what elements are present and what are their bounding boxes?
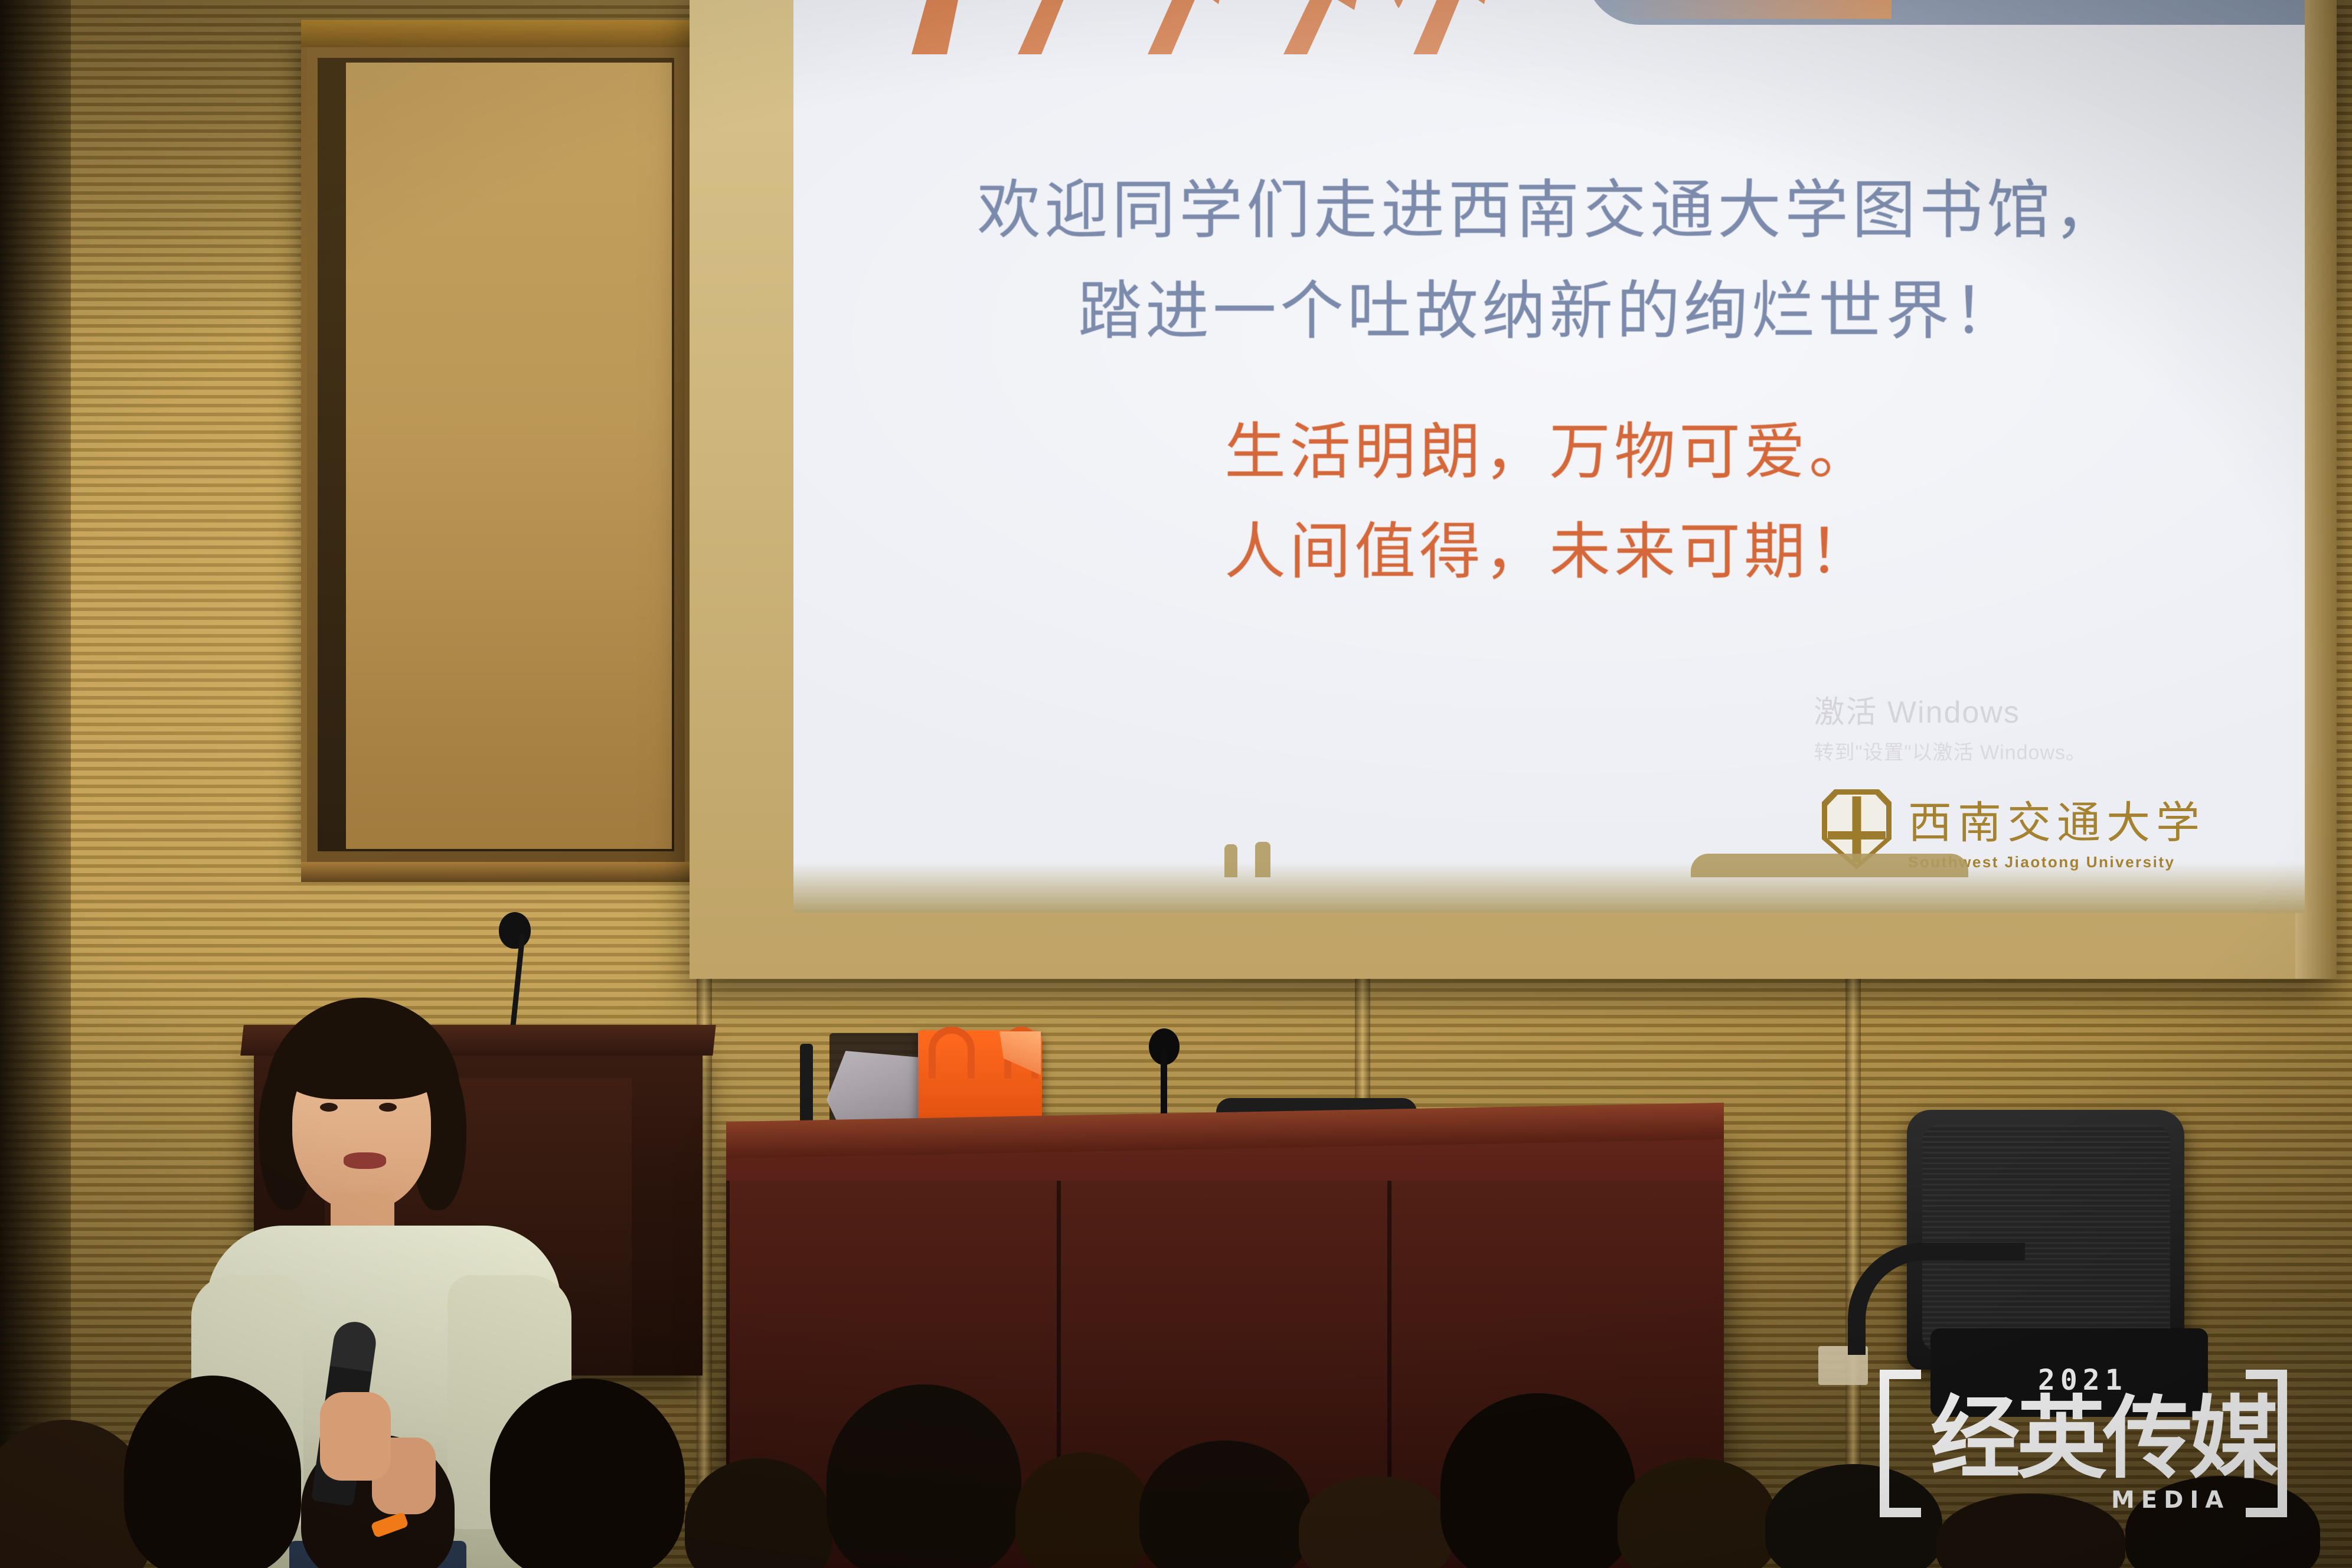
- presenter-hand-holding-mic: [320, 1392, 391, 1481]
- slide-line-accent-1: 生活明朗，万物可爱。: [793, 402, 2305, 501]
- shield-cross-vertical: [1853, 796, 1861, 863]
- audience-head-2: [124, 1376, 301, 1568]
- screen-shadow-blob: [1691, 854, 1968, 877]
- shield-cross-horizontal: [1828, 831, 1886, 839]
- handbag-handle-left: [929, 1027, 975, 1079]
- photo-scene: 欢迎同学们走进西南交通大学图书馆， 踏进一个吐故纳新的绚烂世界！ 生活明朗，万物…: [0, 0, 2352, 1568]
- podium-microphone-head-icon: [499, 912, 531, 949]
- slide-text-gap: [793, 362, 2305, 402]
- window-inner: [318, 58, 674, 851]
- windows-watermark-title: 激活 Windows: [1814, 687, 2086, 731]
- windows-watermark-subtitle: 转到"设置"以激活 Windows。: [1814, 736, 2086, 765]
- window-curtain: [346, 63, 672, 849]
- wall-shadow-left: [0, 0, 71, 1568]
- window-sill: [301, 862, 691, 882]
- watermark-bracket-left-icon: [1880, 1370, 1921, 1517]
- slide-decor-lineart-icon: [894, 0, 1543, 54]
- screen-shadow-antenna-left: [1224, 844, 1237, 877]
- presenter-bangs: [283, 1028, 442, 1099]
- projection-screen-frame: 欢迎同学们走进西南交通大学图书馆， 踏进一个吐故纳新的绚烂世界！ 生活明朗，万物…: [690, 0, 2337, 979]
- media-watermark-logo: 经英传媒 2021 MEDIA: [1880, 1370, 2287, 1517]
- watermark-text-en: MEDIA: [2111, 1487, 2230, 1514]
- presenter-mouth: [344, 1152, 386, 1169]
- audience-head-7: [1015, 1452, 1151, 1568]
- slide-line-accent-2: 人间值得，未来可期！: [793, 502, 2305, 601]
- window-top-rail: [301, 20, 691, 47]
- window-frame: [301, 41, 691, 868]
- screen-shadow-antenna-right: [1255, 842, 1270, 877]
- slide-text-block: 欢迎同学们走进西南交通大学图书馆， 踏进一个吐故纳新的绚烂世界！ 生活明朗，万物…: [793, 161, 2305, 601]
- watermark-year: 2021: [2038, 1364, 2128, 1397]
- slide-line-primary-2: 踏进一个吐故纳新的绚烂世界！: [793, 262, 2305, 362]
- slide-decor-orange-wash: [1608, 0, 1892, 19]
- projection-screen-surface: 欢迎同学们走进西南交通大学图书馆， 踏进一个吐故纳新的绚烂世界！ 生活明朗，万物…: [793, 0, 2305, 913]
- presenter-eye-left: [320, 1103, 338, 1112]
- audience-head-4: [490, 1378, 685, 1568]
- slide-line-primary-1: 欢迎同学们走进西南交通大学图书馆，: [793, 161, 2305, 262]
- screen-bottom-shadow: [793, 862, 2305, 913]
- windows-activation-watermark: 激活 Windows 转到"设置"以激活 Windows。: [1814, 687, 2086, 765]
- presenter-eye-right: [379, 1103, 397, 1112]
- audience-head-6: [827, 1384, 1021, 1568]
- university-name-cn: 西南交通大学: [1908, 788, 2206, 851]
